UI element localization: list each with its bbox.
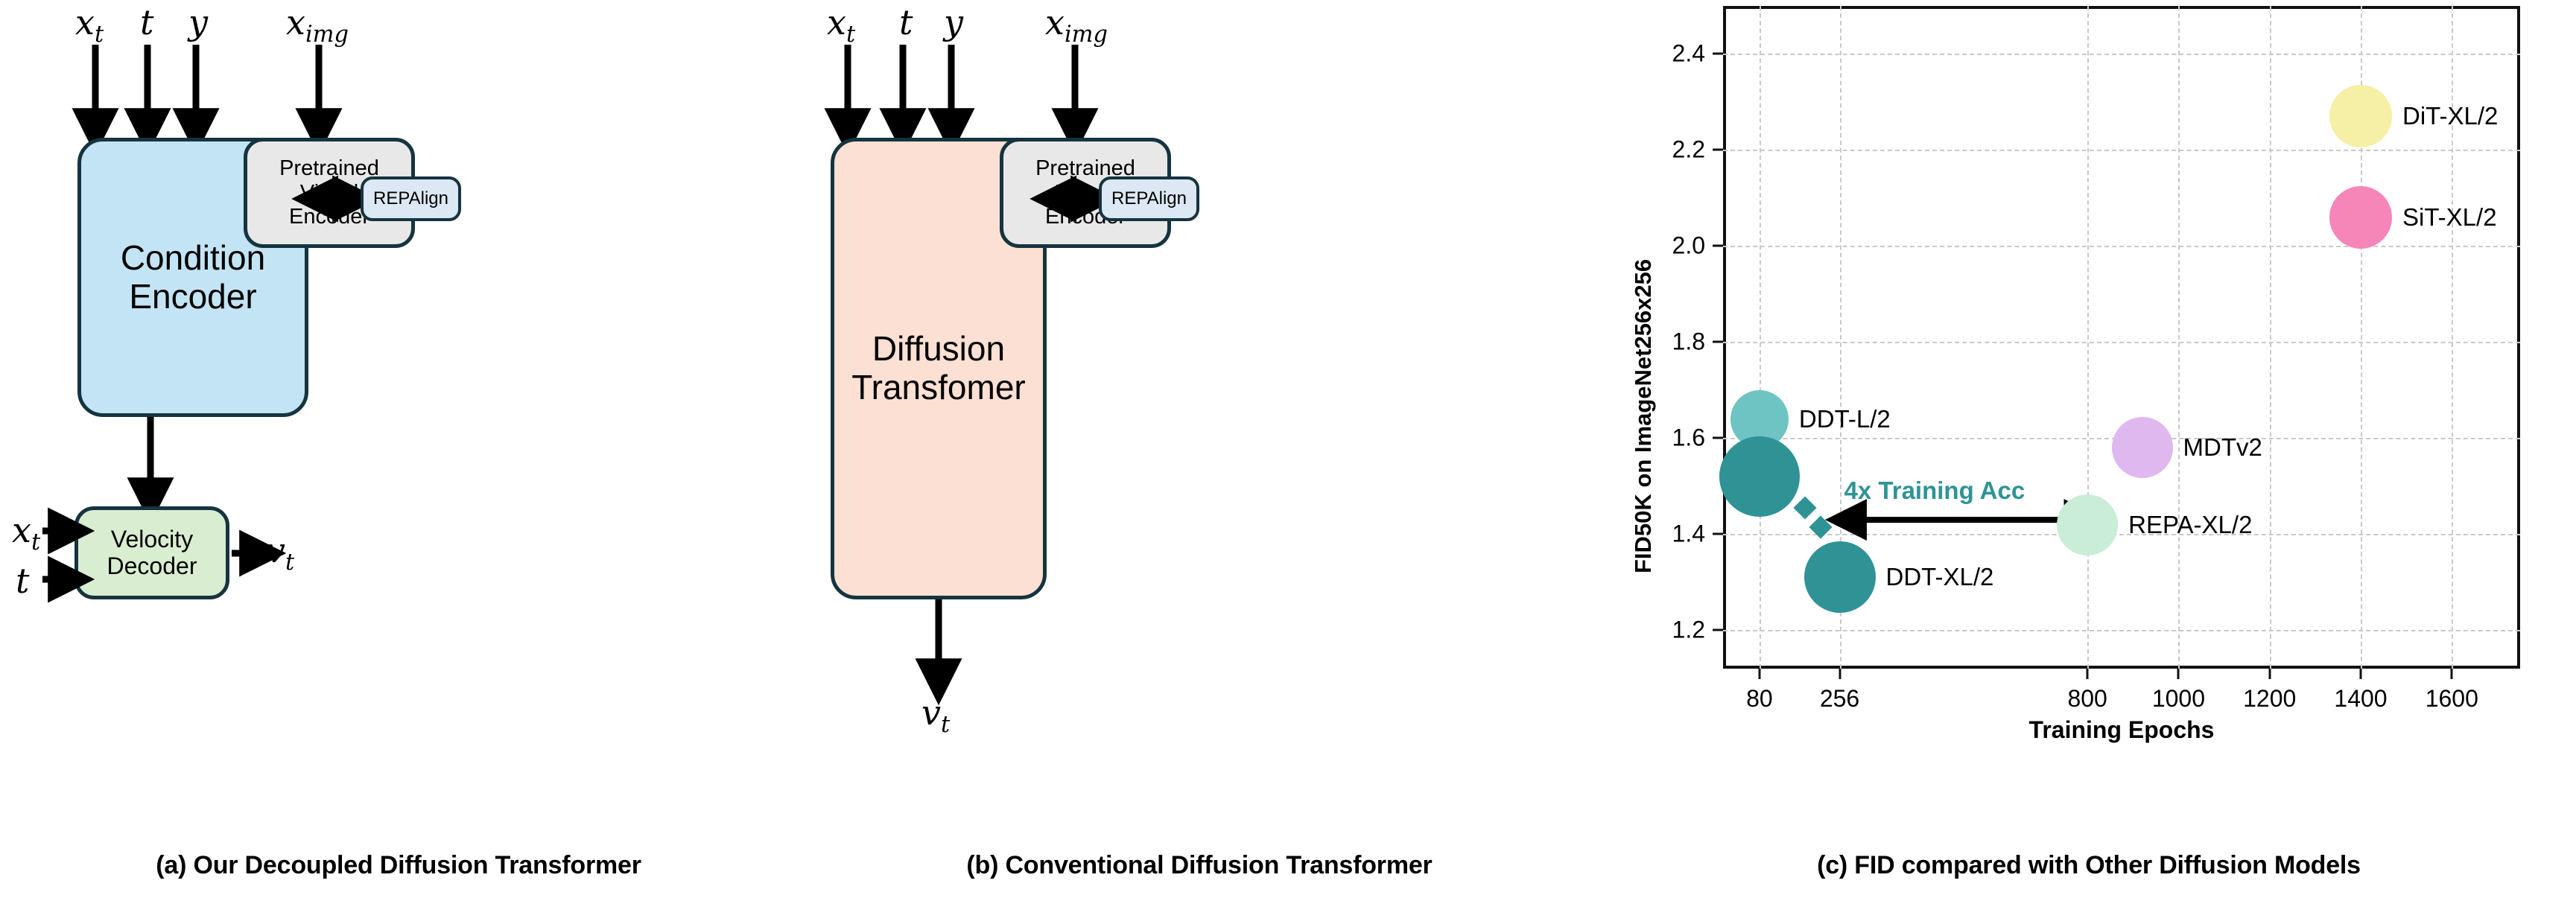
diffusion-transformer-line1: Diffusion [872,330,1005,369]
data-bubble[interactable] [1719,436,1800,517]
data-bubble[interactable] [2112,417,2173,478]
panel-c-fid-scatter-chart: FID50K on ImageNet256x256 Training Epoch… [1602,0,2576,898]
figure-root: xt t y ximg Condition Encoder [0,0,2576,898]
condition-encoder-line2: Encoder [129,278,256,316]
caption-panel-a: (a) Our Decoupled Diffusion Transformer [0,851,797,880]
x-axis-title: Training Epochs [1723,716,2520,744]
repalign-label-a: REPAlign [373,189,448,209]
label-vt-output-b: vt [921,692,950,738]
data-point-label: MDTv2 [2183,433,2262,462]
arrow-transformer-output [797,599,1214,689]
data-point-label: SiT-XL/2 [2402,203,2497,232]
label-ximg-input-b: ximg [1045,2,1108,48]
node-repalign-b: REPAlign [1099,176,1199,221]
data-point-label: DDT-XL/2 [1886,563,1994,591]
label-vt-output-a: vt [266,530,294,576]
arrow-condition-to-velocity-decoder [0,417,417,506]
condition-encoder-line1: Condition [121,239,265,278]
data-bubble[interactable] [2329,85,2392,147]
arrows-into-velocity-decoder [0,506,417,611]
label-ximg-input-a: ximg [286,2,349,48]
data-bubble[interactable] [1804,541,1876,613]
label-t-input-a: t [140,2,154,42]
panel-b-conventional-diffusion-transformer: xt t y ximg Diffusion Transfomer Pretrai… [797,0,1602,898]
caption-panel-c: (c) FID compared with Other Diffusion Mo… [1602,851,2576,880]
data-bubble[interactable] [2329,186,2392,249]
pretrained-encoder-line1-a: Pretrained [279,156,379,180]
data-bubble[interactable] [2057,494,2118,555]
data-point-label: DDT-L/2 [1799,405,1891,433]
label-xt-input-b: xt [827,2,855,48]
label-y-input-b: y [944,2,963,42]
node-repalign-a: REPAlign [361,176,461,221]
label-t-input-b: t [899,2,913,42]
arrow-into-pretrained-encoder-a [0,45,417,138]
data-point-label: DiT-XL/2 [2402,102,2498,130]
data-point-label: REPA-XL/2 [2128,511,2252,539]
arrows-into-diffusion-transformer [797,45,1214,138]
arrow-transformer-to-repalign-b [1047,179,1233,462]
diffusion-transformer-line2: Transfomer [851,369,1025,407]
annotation-4x-training-acc: 4x Training Acc [1844,477,2025,505]
label-xt-input-a: xt [75,2,104,48]
panel-a-decoupled-diffusion-transformer: xt t y ximg Condition Encoder [0,0,797,898]
caption-panel-b: (b) Conventional Diffusion Transformer [797,851,1602,880]
label-y-input-a: y [188,2,208,42]
repalign-label-b: REPAlign [1111,189,1187,209]
